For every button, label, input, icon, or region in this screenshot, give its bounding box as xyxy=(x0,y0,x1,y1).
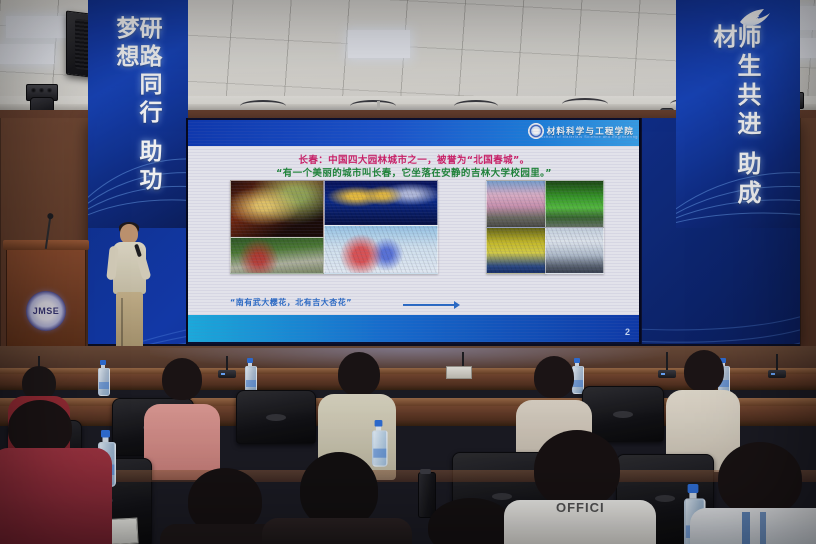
left-led-banner: 研路同行 助功梦想 xyxy=(88,0,188,228)
audience-member xyxy=(146,358,218,478)
photo-winter-snow-road xyxy=(545,227,604,274)
desk-microphone-base xyxy=(218,370,236,378)
right-led-banner: ❄ 师生共进 助成材 xyxy=(676,0,800,228)
audience-member-foreground xyxy=(696,442,816,544)
screen-bezel-seam xyxy=(186,118,188,346)
desk-row-near xyxy=(0,470,816,482)
right-banner-text: 师生共进 助成材 xyxy=(710,24,758,220)
photo-spring-blossom-road xyxy=(486,180,546,228)
slide-headline-1: 长春：中国四大园林城市之一，被誉为“北国春城”。 xyxy=(188,152,640,166)
podium-emblem-text: JMSE xyxy=(33,306,60,316)
presentation-slide[interactable]: 材料科学与工程学院 School of Materials Science an… xyxy=(188,120,640,342)
photo-tram-green-street xyxy=(230,237,324,274)
caption-arrow-icon xyxy=(403,304,455,306)
stage-floor-glow xyxy=(150,348,670,370)
ceiling-light-panel xyxy=(0,44,54,64)
chair[interactable] xyxy=(236,390,316,444)
wall-panel xyxy=(800,118,816,368)
audience-member-foreground xyxy=(266,452,406,544)
slide-photo-collage xyxy=(230,180,602,272)
photo-night-blossom-tree xyxy=(230,180,324,238)
left-banner-text: 研路同行 助功梦想 xyxy=(114,16,160,212)
ceiling-light-panel xyxy=(348,30,410,58)
shirt-stripe xyxy=(742,512,750,544)
desk-microphone-base xyxy=(768,370,786,378)
shirt-stripe xyxy=(760,512,766,544)
slide-footer-band xyxy=(188,315,640,342)
slide-headline-2: “有一个美丽的城市叫长春，它坐落在安静的吉林大学校园里。” xyxy=(188,165,640,179)
screen-bezel-seam xyxy=(639,118,641,346)
presenter xyxy=(108,224,152,356)
slide-caption: “南有武大樱花，北有吉大杏花” xyxy=(230,297,352,308)
photo-autumn-yellow-road xyxy=(486,227,546,274)
presenter-leg-split xyxy=(121,298,123,348)
ceiling-light-panel xyxy=(6,16,66,38)
jersey-text: OFFICI xyxy=(556,500,605,515)
desk-nameplate xyxy=(446,366,472,379)
ceiling-cable xyxy=(562,98,608,110)
audience-member-foreground xyxy=(0,400,108,544)
photo-snow-sledding xyxy=(324,225,438,274)
audience-member-foreground xyxy=(510,430,646,544)
photo-summer-green-road xyxy=(545,180,604,228)
presenter-head xyxy=(120,224,138,244)
podium-emblem: JMSE xyxy=(26,291,66,331)
lecture-hall-scene: 研路同行 助功梦想 ❄ 师生共进 助成材 材料科学与工程学院 School of… xyxy=(0,0,816,544)
photo-night-pavilion-lake xyxy=(324,180,438,226)
school-logo-en: School of Materials Science and Engineer… xyxy=(541,135,638,139)
slide-page-number: 2 xyxy=(625,327,630,337)
